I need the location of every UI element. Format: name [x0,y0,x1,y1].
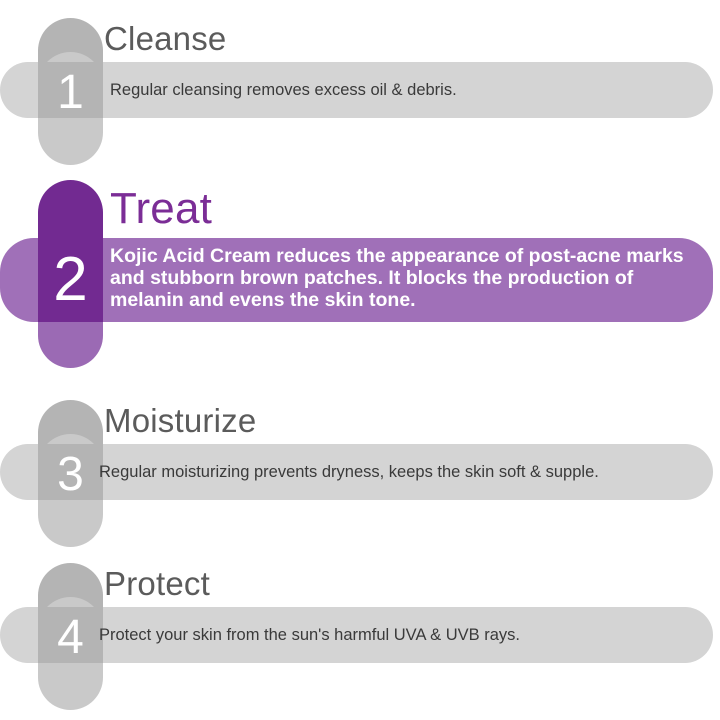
step-2-body: Kojic Acid Cream reduces the appearance … [110,246,696,311]
skincare-routine-infographic: 1 Cleanse Regular cleansing removes exce… [0,0,720,720]
step-2-number: 2 [38,249,103,311]
step-4-body: Protect your skin from the sun's harmful… [99,626,679,645]
step-3-title: Moisturize [104,402,256,440]
step-1-title: Cleanse [104,20,226,58]
step-4-title: Protect [104,565,210,603]
step-1-body: Regular cleansing removes excess oil & d… [110,81,690,100]
step-3-body: Regular moisturizing prevents dryness, k… [99,463,699,482]
step-3-number: 3 [38,451,103,499]
step-4-number: 4 [38,614,103,662]
step-1-number: 1 [38,69,103,117]
step-2-title: Treat [110,184,212,234]
